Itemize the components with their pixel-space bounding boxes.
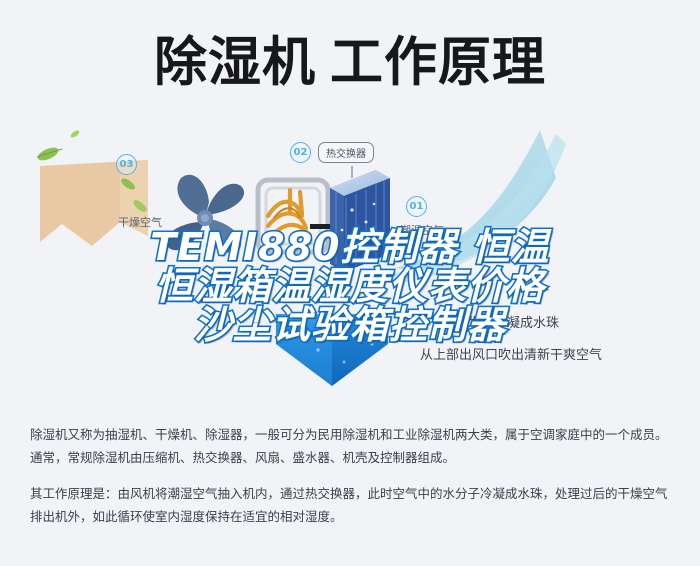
badge-03-secondary: 03 [448,316,469,337]
title-part-two: 工作原理 [330,32,546,93]
compressor-pipes [258,180,342,252]
fan-assembly [166,175,244,254]
page-root: 除湿机工作原理 [0,0,700,566]
badge-01: 01 [406,196,427,217]
callout-heat-exchanger: 热交换器 [318,142,374,163]
label-moist-air: 潮湿空气 [400,222,444,238]
heat-exchanger [330,170,390,272]
badge-02: 02 [290,142,311,163]
label-water-tank: 水箱 [318,326,338,341]
label-outlet-text: 从上部出风口吹出清新干爽空气 [420,344,602,363]
title-part-one: 除湿机 [154,32,316,93]
label-condense-text: 发器冷凝成水珠 [468,312,559,331]
title-text: 除湿机工作原理 [154,36,546,89]
body-copy: 除湿机又称为抽湿机、干燥机、除湿器，一般可分为民用除湿机和工业除湿机两大类，属于… [30,423,675,528]
water-tank [276,314,388,386]
label-dry-air: 干燥空气 [118,214,162,230]
dehumidifier-diagram: 03 02 01 03 热交换器 干燥空气 潮湿空气 水箱 发器冷凝成水珠 从上… [0,118,700,410]
page-title: 除湿机工作原理 [0,22,700,102]
body-paragraph-2: 其工作原理是：由风机将潮湿空气抽入机内，通过热交换器，此时空气中的水分子冷凝成水… [30,482,675,528]
badge-03: 03 [116,154,137,175]
body-paragraph-1: 除湿机又称为抽湿机、干燥机、除湿器，一般可分为民用除湿机和工业除湿机两大类，属于… [30,423,675,469]
